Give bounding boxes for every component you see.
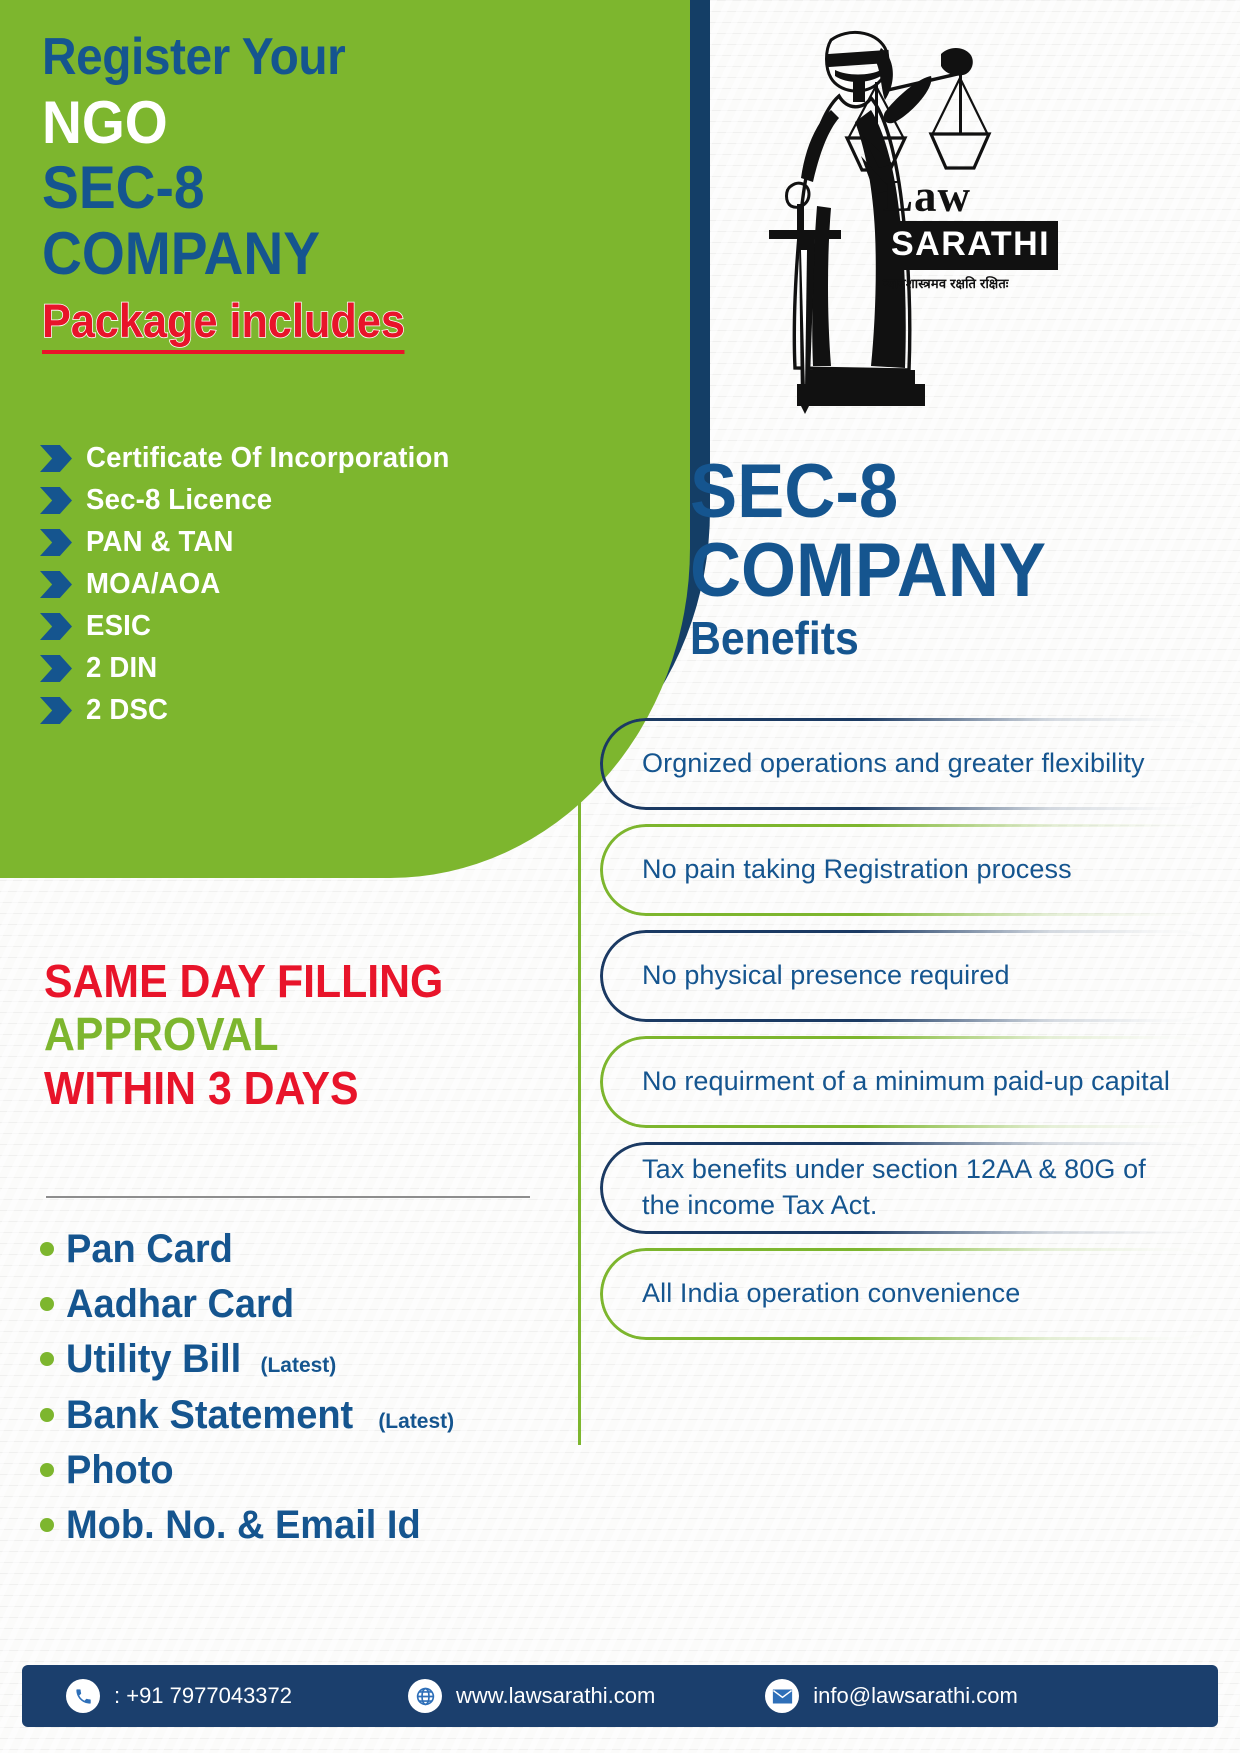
document-label: Pan Card (66, 1224, 233, 1275)
logo-tagline-sanskrit: न्यायशास्त्रमव रक्षति रक्षितः (883, 274, 1058, 292)
headline-register: Register Your (42, 30, 594, 85)
benefit-text: All India operation convenience (642, 1276, 1020, 1312)
package-item-label: MOA/AOA (86, 568, 220, 601)
benefit-pill: No requirment of a minimum paid-up capit… (600, 1036, 1225, 1128)
promise-line-approval: APPROVAL (44, 1008, 443, 1061)
document-item: Pan Card (40, 1224, 454, 1275)
contact-email[interactable]: info@lawsarathi.com (765, 1679, 1018, 1713)
document-note: (Latest) (378, 1410, 454, 1434)
benefit-text: Tax benefits under section 12AA & 80G of… (642, 1152, 1185, 1223)
package-item: PAN & TAN (40, 526, 469, 559)
package-item: 2 DSC (40, 694, 469, 727)
benefit-text: No pain taking Registration process (642, 852, 1072, 888)
required-documents-list: Pan Card Aadhar Card Utility Bill (Lates… (40, 1224, 454, 1555)
chevron-arrow-icon (40, 613, 72, 640)
package-item: ESIC (40, 610, 469, 643)
benefits-title-sec8: SEC-8 (690, 455, 1174, 529)
turnaround-promise: SAME DAY FILLING APPROVAL WITHIN 3 DAYS (44, 955, 473, 1115)
document-label: Bank Statement (66, 1390, 353, 1441)
document-label: Photo (66, 1445, 174, 1496)
benefit-text: No physical presence required (642, 958, 1010, 994)
chevron-arrow-icon (40, 697, 72, 724)
benefit-pill: Orgnized operations and greater flexibil… (600, 718, 1225, 810)
promise-line-within-3-days: WITHIN 3 DAYS (44, 1062, 443, 1115)
bullet-dot-icon (40, 1518, 54, 1532)
logo-word-law: Law (883, 174, 1058, 219)
contact-email-text: info@lawsarathi.com (813, 1683, 1018, 1709)
package-item-label: 2 DSC (86, 694, 168, 727)
document-item: Mob. No. & Email Id (40, 1500, 454, 1551)
benefits-title-block: SEC-8 COMPANY Benefits (690, 455, 1210, 661)
benefits-list: Orgnized operations and greater flexibil… (600, 718, 1225, 1354)
document-note: (Latest) (260, 1354, 336, 1378)
chevron-arrow-icon (40, 571, 72, 598)
headline-block: Register Your NGO SEC-8 COMPANY Package … (42, 30, 642, 354)
package-item-label: PAN & TAN (86, 526, 234, 559)
package-item-label: Certificate Of Incorporation (86, 442, 450, 475)
benefit-text: No requirment of a minimum paid-up capit… (642, 1064, 1170, 1100)
bullet-dot-icon (40, 1408, 54, 1422)
benefits-title-benefits: Benefits (690, 615, 1174, 661)
benefits-title-company: COMPANY (690, 533, 1174, 609)
phone-icon (66, 1679, 100, 1713)
benefit-pill: All India operation convenience (600, 1248, 1225, 1340)
bullet-dot-icon (40, 1352, 54, 1366)
package-includes-list: Certificate Of Incorporation Sec-8 Licen… (40, 442, 469, 736)
chevron-arrow-icon (40, 529, 72, 556)
document-item: Aadhar Card (40, 1279, 454, 1330)
chevron-arrow-icon (40, 445, 72, 472)
law-sarathi-logo: Law SARATHI न्यायशास्त्रमव रक्षति रक्षित… (735, 18, 1065, 428)
document-label: Utility Bill (66, 1334, 241, 1385)
promise-line-same-day-filling: SAME DAY FILLING (44, 955, 443, 1008)
bullet-dot-icon (40, 1463, 54, 1477)
headline-company: COMPANY (42, 222, 594, 286)
globe-icon (408, 1679, 442, 1713)
envelope-icon (765, 1679, 799, 1713)
package-item-label: Sec-8 Licence (86, 484, 272, 517)
contact-website[interactable]: www.lawsarathi.com (408, 1679, 655, 1713)
divider (46, 1196, 530, 1198)
package-item: Sec-8 Licence (40, 484, 469, 517)
chevron-arrow-icon (40, 655, 72, 682)
document-label: Aadhar Card (66, 1279, 294, 1330)
bullet-dot-icon (40, 1297, 54, 1311)
vertical-green-rail (578, 730, 581, 1445)
document-item: Bank Statement (Latest) (40, 1390, 454, 1441)
chevron-arrow-icon (40, 487, 72, 514)
package-item: Certificate Of Incorporation (40, 442, 469, 475)
package-item-label: 2 DIN (86, 652, 157, 685)
benefit-pill: Tax benefits under section 12AA & 80G of… (600, 1142, 1225, 1234)
contact-footer-bar: : +91 7977043372 www.lawsarathi.com info… (22, 1665, 1218, 1727)
document-item: Utility Bill (Latest) (40, 1334, 454, 1385)
headline-ngo: NGO (42, 91, 594, 155)
logo-word-sarathi: SARATHI (891, 225, 1050, 263)
package-item-label: ESIC (86, 610, 151, 643)
benefit-pill: No physical presence required (600, 930, 1225, 1022)
contact-phone[interactable]: : +91 7977043372 (66, 1679, 292, 1713)
benefit-pill: No pain taking Registration process (600, 824, 1225, 916)
contact-website-text: www.lawsarathi.com (456, 1683, 655, 1709)
contact-phone-text: : +91 7977043372 (114, 1683, 292, 1709)
document-label: Mob. No. & Email Id (66, 1500, 421, 1551)
benefit-text: Orgnized operations and greater flexibil… (642, 746, 1145, 782)
headline-sec8: SEC-8 (42, 156, 594, 220)
headline-package-includes: Package includes (42, 293, 405, 354)
bullet-dot-icon (40, 1242, 54, 1256)
package-item: 2 DIN (40, 652, 469, 685)
document-item: Photo (40, 1445, 454, 1496)
package-item: MOA/AOA (40, 568, 469, 601)
